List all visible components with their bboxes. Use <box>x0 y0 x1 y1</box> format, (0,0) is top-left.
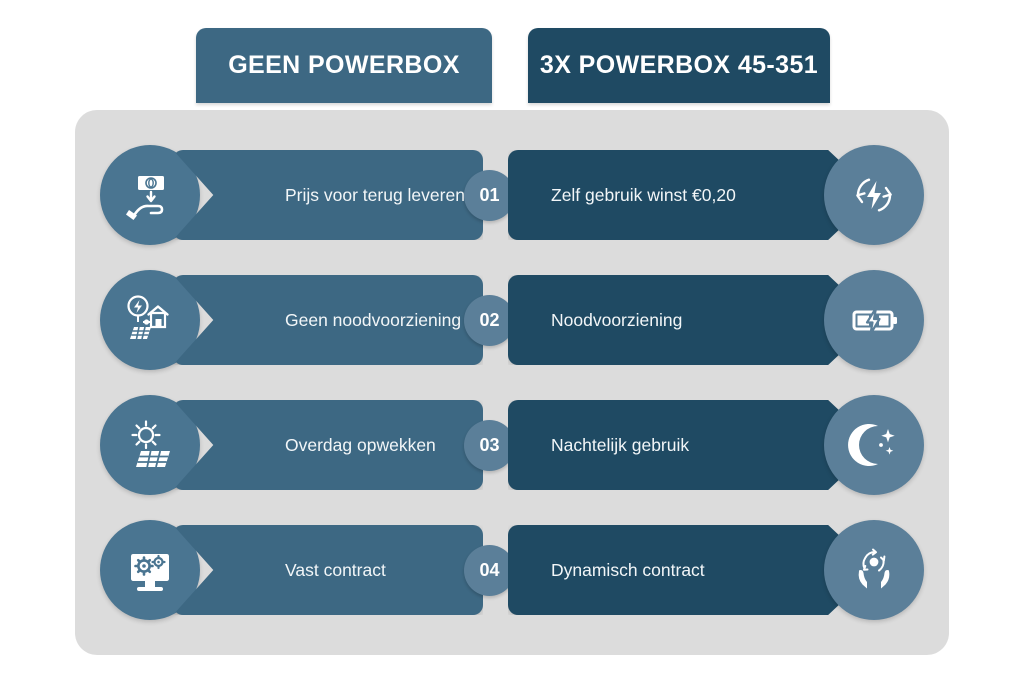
infographic-comparison: GEEN POWERBOX 3X POWERBOX 45-351 Prijs v… <box>0 0 1024 694</box>
step-number: 02 <box>479 310 499 331</box>
right-item-label: Nachtelijk gebruik <box>551 435 689 456</box>
header-tab-left-label: GEEN POWERBOX <box>228 51 460 80</box>
hands-recycle-icon <box>824 520 924 620</box>
step-number-badge: 01 <box>464 170 515 221</box>
header-tab-left: GEEN POWERBOX <box>196 28 492 103</box>
step-number-badge: 04 <box>464 545 515 596</box>
header-tab-right-label: 3X POWERBOX 45-351 <box>540 51 818 80</box>
left-item-label: Geen noodvoorziening <box>285 310 461 331</box>
step-number: 04 <box>479 560 499 581</box>
right-item-label: Noodvoorziening <box>551 310 682 331</box>
right-item-bar: Noodvoorziening <box>508 275 876 365</box>
right-item-label: Zelf gebruik winst €0,20 <box>551 185 736 206</box>
step-number-badge: 02 <box>464 295 515 346</box>
left-item-label: Vast contract <box>285 560 386 581</box>
moon-stars-icon <box>824 395 924 495</box>
left-item-bar: Overdag opwekken <box>173 400 483 490</box>
step-number-badge: 03 <box>464 420 515 471</box>
step-number: 01 <box>479 185 499 206</box>
comparison-row: Overdag opwekken 03 Nachtelijk gebruik <box>75 395 949 495</box>
right-item-label: Dynamisch contract <box>551 560 705 581</box>
comparison-row: Prijs voor terug leveren €0.02 01 Zelf g… <box>75 145 949 245</box>
left-item-bar: Vast contract <box>173 525 483 615</box>
header-tab-right: 3X POWERBOX 45-351 <box>528 28 830 103</box>
right-item-bar: Zelf gebruik winst €0,20 <box>508 150 876 240</box>
right-item-bar: Nachtelijk gebruik <box>508 400 876 490</box>
right-item-bar: Dynamisch contract <box>508 525 876 615</box>
left-item-label: Overdag opwekken <box>285 435 436 456</box>
comparison-row: Vast contract 04 Dynamisch contract <box>75 520 949 620</box>
comparison-row: Geen noodvoorziening 02 Noodvoorziening <box>75 270 949 370</box>
left-item-bar: Geen noodvoorziening <box>173 275 483 365</box>
left-item-bar: Prijs voor terug leveren €0.02 <box>173 150 483 240</box>
step-number: 03 <box>479 435 499 456</box>
battery-charging-icon <box>824 270 924 370</box>
comparison-panel: Prijs voor terug leveren €0.02 01 Zelf g… <box>75 110 949 655</box>
energy-cycle-bolt-icon <box>824 145 924 245</box>
